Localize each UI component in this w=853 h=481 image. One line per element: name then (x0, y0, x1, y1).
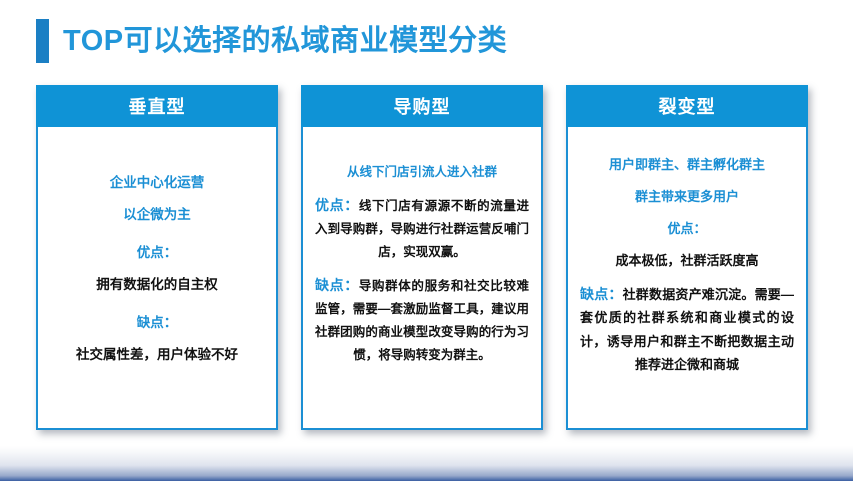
card-title-fission: 裂变型 (659, 93, 716, 119)
spacer (311, 184, 533, 193)
model-card-fission[interactable]: 裂变型 用户即群主、群主孵化群主 群主带来更多用户 优点： 成本极低，社群活跃度… (566, 85, 808, 430)
card-header-vertical: 垂直型 (36, 85, 278, 127)
spacer (46, 227, 268, 242)
cons-label-text: 缺点： (315, 277, 359, 293)
model-card-vertical[interactable]: 垂直型 企业中心化运营 以企微为主 优点： 拥有数据化的自主权 缺点： 社交属性… (36, 85, 278, 430)
card1-cons-text: 社交属性差，用户体验不好 (46, 344, 268, 367)
card1-line-2: 以企微为主 (46, 204, 268, 227)
cons-label-text: 缺点： (580, 286, 623, 302)
card1-cons-label: 缺点： (46, 312, 268, 335)
spacer (46, 265, 268, 274)
card-title-vertical: 垂直型 (129, 93, 186, 119)
spacer (311, 264, 533, 273)
card2-cons: 缺点：导购群体的服务和社交比较难监管，需要—套激励监督工具，建议用社群团购的商业… (311, 273, 533, 367)
cons-label-text: 缺点： (137, 315, 178, 330)
card3-line-1: 用户即群主、群主孵化群主 (576, 153, 798, 176)
spacer (576, 240, 798, 249)
card-body-guide: 从线下门店引流人进入社群 优点：线下门店有源源不断的流量进入到导购群，导购进行社… (303, 127, 541, 426)
card1-pros-text: 拥有数据化的自主权 (46, 274, 268, 297)
card-body-fission: 用户即群主、群主孵化群主 群主带来更多用户 优点： 成本极低，社群活跃度高 缺点… (568, 127, 806, 426)
pros-label-text: 优点： (667, 221, 706, 236)
card3-pros-text: 成本极低，社群活跃度高 (576, 249, 798, 272)
card-title-guide: 导购型 (394, 93, 451, 119)
page-title: TOP可以选择的私域商业模型分类 (36, 18, 507, 64)
title-text: TOP可以选择的私域商业模型分类 (63, 27, 507, 56)
card1-line-1: 企业中心化运营 (46, 172, 268, 195)
card2-lead: 从线下门店引流人进入社群 (311, 161, 533, 184)
card3-cons: 缺点：社群数据资产难沉淀。需要—套优质的社群系统和商业模式的设计，诱导用户和群主… (576, 282, 798, 376)
card-header-guide: 导购型 (301, 85, 543, 127)
pros-label-text: 优点： (137, 245, 178, 260)
card1-pros-label: 优点： (46, 242, 268, 265)
spacer (46, 195, 268, 204)
card-header-fission: 裂变型 (566, 85, 808, 127)
model-card-guide[interactable]: 导购型 从线下门店引流人进入社群 优点：线下门店有源源不断的流量进入到导购群，导… (301, 85, 543, 430)
spacer (46, 335, 268, 344)
spacer (576, 176, 798, 185)
bottom-gradient-strip (0, 446, 853, 481)
spacer (46, 297, 268, 312)
slide-canvas: TOP可以选择的私域商业模型分类 垂直型 企业中心化运营 以企微为主 优点： 拥… (0, 0, 853, 481)
spacer (576, 273, 798, 282)
title-accent-bar (36, 19, 49, 63)
card3-pros-label: 优点： (576, 217, 798, 240)
pros-label-text: 优点： (315, 197, 359, 213)
card2-pros: 优点：线下门店有源源不断的流量进入到导购群，导购进行社群运营反哺门店，实现双赢。 (311, 193, 533, 264)
spacer (576, 208, 798, 217)
card3-line-2: 群主带来更多用户 (576, 185, 798, 208)
card-body-vertical: 企业中心化运营 以企微为主 优点： 拥有数据化的自主权 缺点： 社交属性差，用户… (38, 127, 276, 426)
